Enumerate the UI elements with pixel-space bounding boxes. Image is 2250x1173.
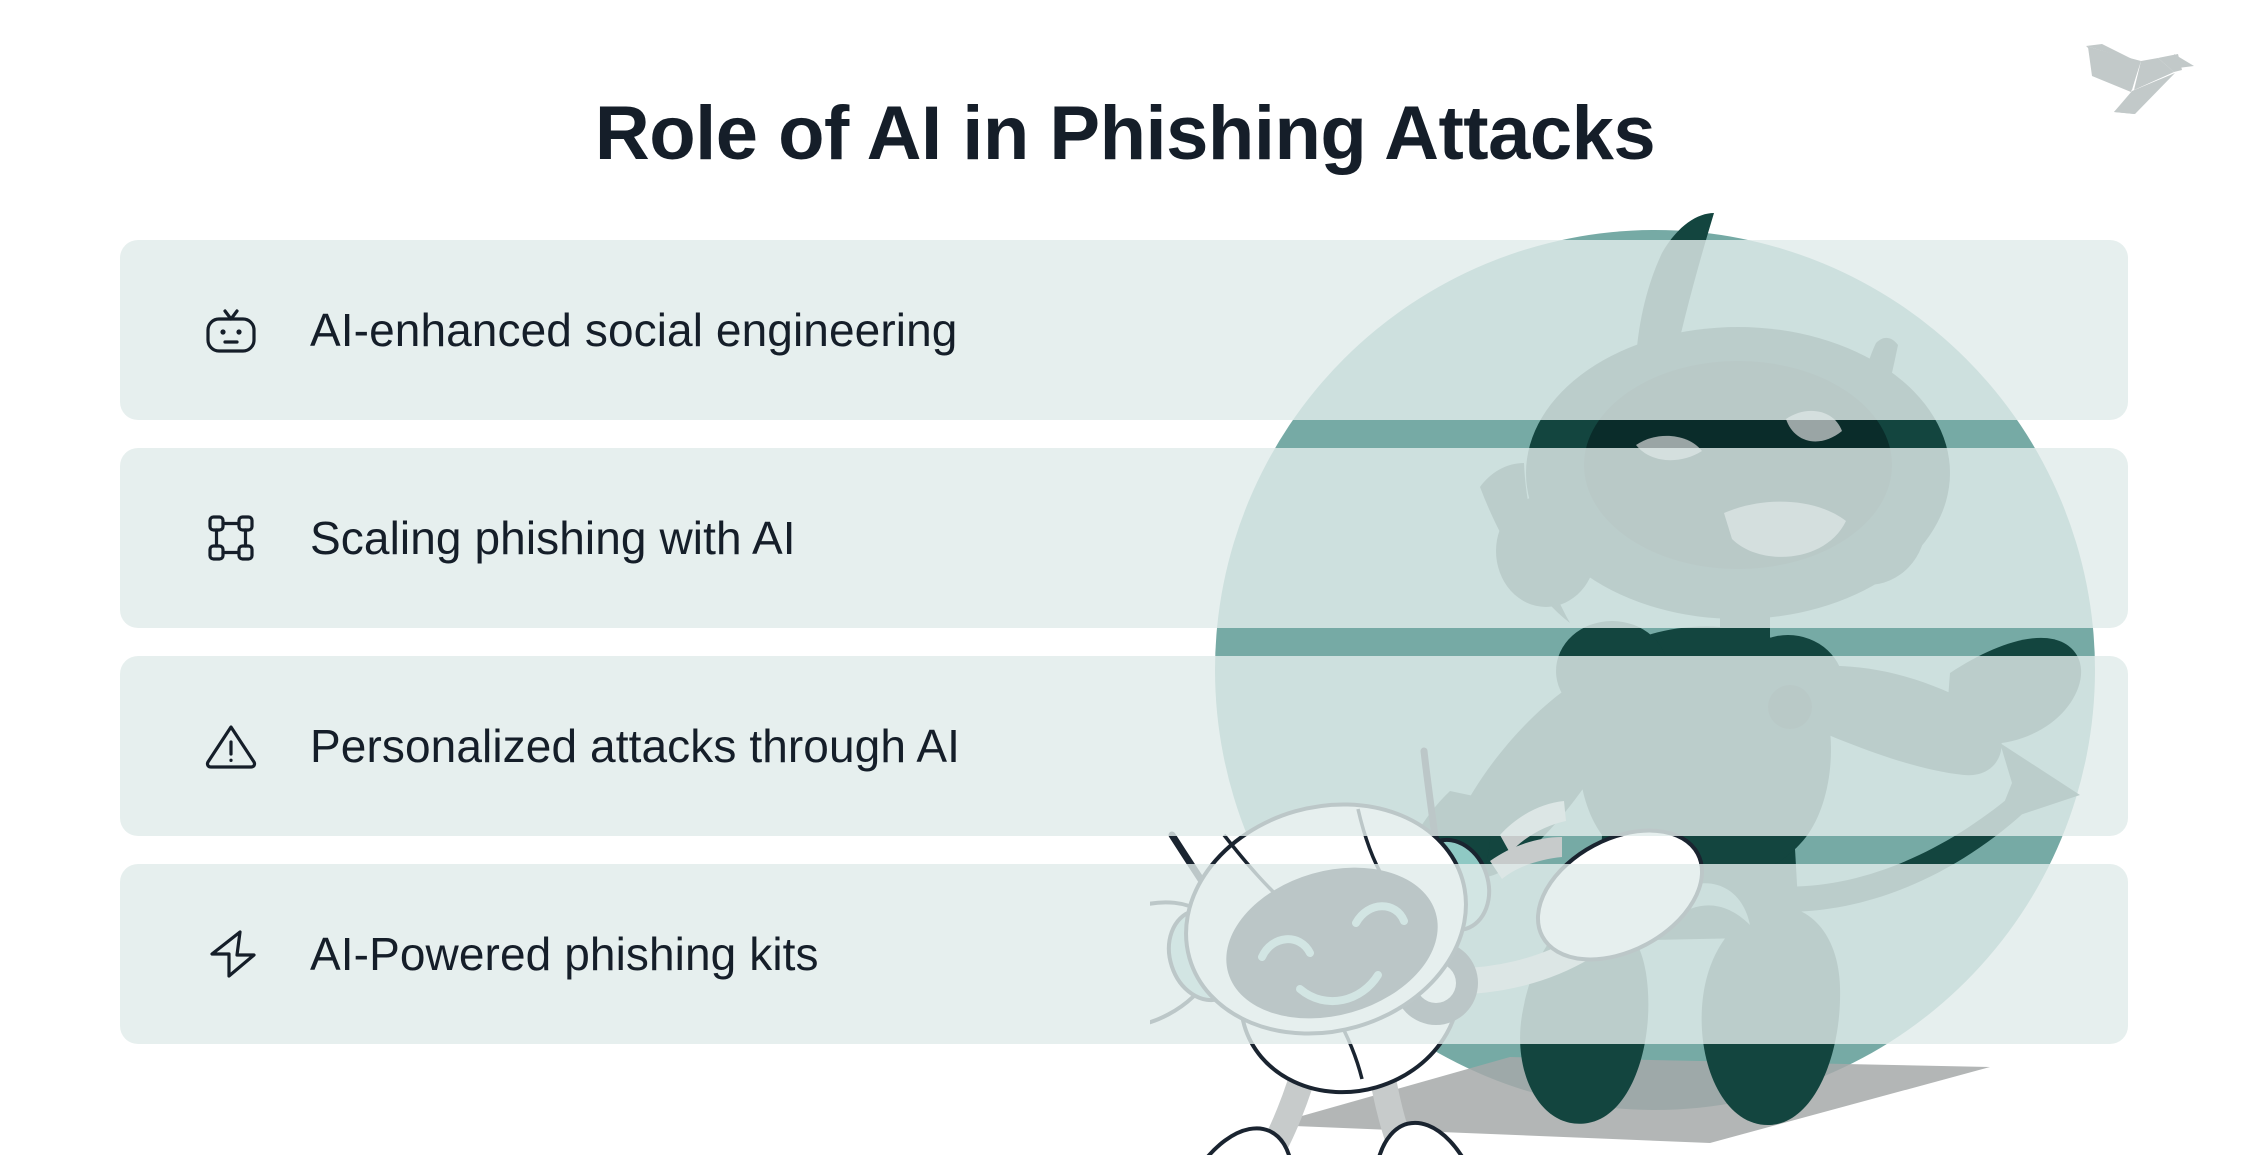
feature-card-label: Scaling phishing with AI [310, 511, 796, 565]
feature-card-1[interactable]: AI-enhanced social engineering [120, 240, 2128, 420]
feature-card-label: AI-enhanced social engineering [310, 303, 957, 357]
lightning-bolt-icon [194, 917, 268, 991]
feature-card-3[interactable]: Personalized attacks through AI [120, 656, 2128, 836]
robot-head-icon [194, 293, 268, 367]
friendly-foot-left [1150, 1110, 1317, 1155]
bounding-box-scale-icon [194, 501, 268, 575]
friendly-foot-right [1357, 1111, 1502, 1155]
friendly-legs [1150, 1057, 1503, 1155]
feature-card-2[interactable]: Scaling phishing with AI [120, 448, 2128, 628]
ground-shadow [1270, 1057, 1990, 1143]
feature-card-label: AI-Powered phishing kits [310, 927, 819, 981]
page-title: Role of AI in Phishing Attacks [0, 96, 2250, 172]
warning-triangle-icon [194, 709, 268, 783]
feature-card-label: Personalized attacks through AI [310, 719, 960, 773]
feature-card-4[interactable]: AI-Powered phishing kits [120, 864, 2128, 1044]
feature-card-list: AI-enhanced social engineering Scaling p… [120, 240, 2128, 1044]
